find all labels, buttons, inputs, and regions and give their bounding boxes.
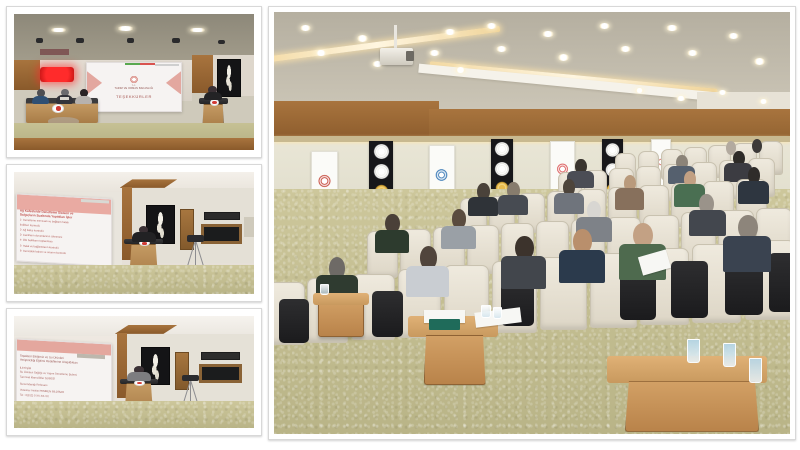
downlight [486,23,497,29]
attendee-body [501,256,546,289]
slide-org-line-2: TARIM VE ORMAN BAKANLIĞI [87,87,181,90]
downlight [357,35,368,41]
projection-screen-closing: Teşekkür Ettiğimiz ve Su Ürünleri Yetişt… [16,338,112,408]
drinking-glass [493,307,502,320]
speaker-body [132,232,156,242]
water-bottle [749,358,762,382]
seat-back [279,299,309,343]
projection-screen-stage: T.C. TARIM VE ORMAN BAKANLIĞI TEŞEKKÜRLE… [86,62,182,112]
downlight [117,26,134,31]
downlight [558,54,569,60]
video-camera [182,375,199,381]
neon-turkish-flag-sign [40,67,74,82]
water-bottle [723,343,736,367]
photo-image-stage: T.C. TARIM VE ORMAN BAKANLIĞI TEŞEKKÜRLE… [14,14,254,150]
slide-headline: TEŞEKKÜRLER [87,94,181,99]
speaker-body [204,92,222,100]
attendee-body [689,210,726,236]
attendee-body [375,230,409,253]
attendee-body [468,197,498,216]
downlight [666,25,677,31]
seat-back [372,291,403,337]
rosette-icon [494,142,510,156]
attendee-body [441,226,476,250]
video-camera [187,235,204,241]
ministry-emblem-icon [129,76,138,83]
attendee-body [615,188,645,210]
photo-image-speaker-closing: Teşekkür Ettiğimiz ve Su Ürünleri Yetişt… [14,316,254,428]
wall-artwork [217,59,241,97]
wall-monitor [199,364,242,383]
attendee-body [559,250,605,284]
photo-panel-speaker-bullets[interactable]: Ağ Kafeslerde Denetleme Sistemi ve Dalgı… [6,164,262,302]
blue-emblem-icon [434,168,449,183]
drinking-glass [320,284,328,295]
downlight [754,58,765,64]
attendee-body [738,181,769,205]
attendee-body [554,193,584,214]
slide-footer [87,104,181,106]
wall-plaque [201,352,239,360]
rosette-icon [373,164,390,179]
projector-mount [394,25,397,50]
seat-back [769,253,790,312]
projection-screen-bullets: Ağ Kafeslerde Denetleme Sistemi ve Dalgı… [16,194,112,268]
wall-monitor [201,224,242,244]
photo-collage: T.C. TARIM VE ORMAN BAKANLIĞI TEŞEKKÜRLE… [0,0,800,450]
downlight [444,29,455,35]
panelist-body [75,96,92,104]
seat-back [671,261,708,318]
attendee-body [723,236,772,272]
folder [429,319,460,330]
downlight [620,46,631,52]
ministry-emblem-icon [317,174,333,188]
photo-panel-stage-head-table[interactable]: T.C. TARIM VE ORMAN BAKANLIĞI TEŞEKKÜRLE… [6,6,262,158]
downlight [599,23,610,29]
wall-plaque [204,212,240,219]
attendee-head [752,139,762,153]
downlight [300,25,311,31]
photo-panel-speaker-closing[interactable]: Teşekkür Ettiğimiz ve Su Ürünleri Yetişt… [6,308,262,436]
photo-image-speaker-bullets: Ağ Kafeslerde Denetleme Sistemi ve Dalgı… [14,172,254,294]
downlight [315,50,326,56]
photo-image-auditorium [274,12,790,434]
panelist-body [32,96,49,104]
side-table [424,335,486,386]
drinking-glass [481,305,490,318]
water-bottle [687,339,700,363]
photo-panel-auditorium-audience[interactable] [268,6,796,440]
downlight [759,99,768,104]
rosette-icon [373,144,390,159]
speaker-body [127,372,151,381]
attendee-body [406,266,449,297]
attendee-body [498,195,528,215]
side-table [625,381,759,432]
rosette-icon [494,162,510,176]
